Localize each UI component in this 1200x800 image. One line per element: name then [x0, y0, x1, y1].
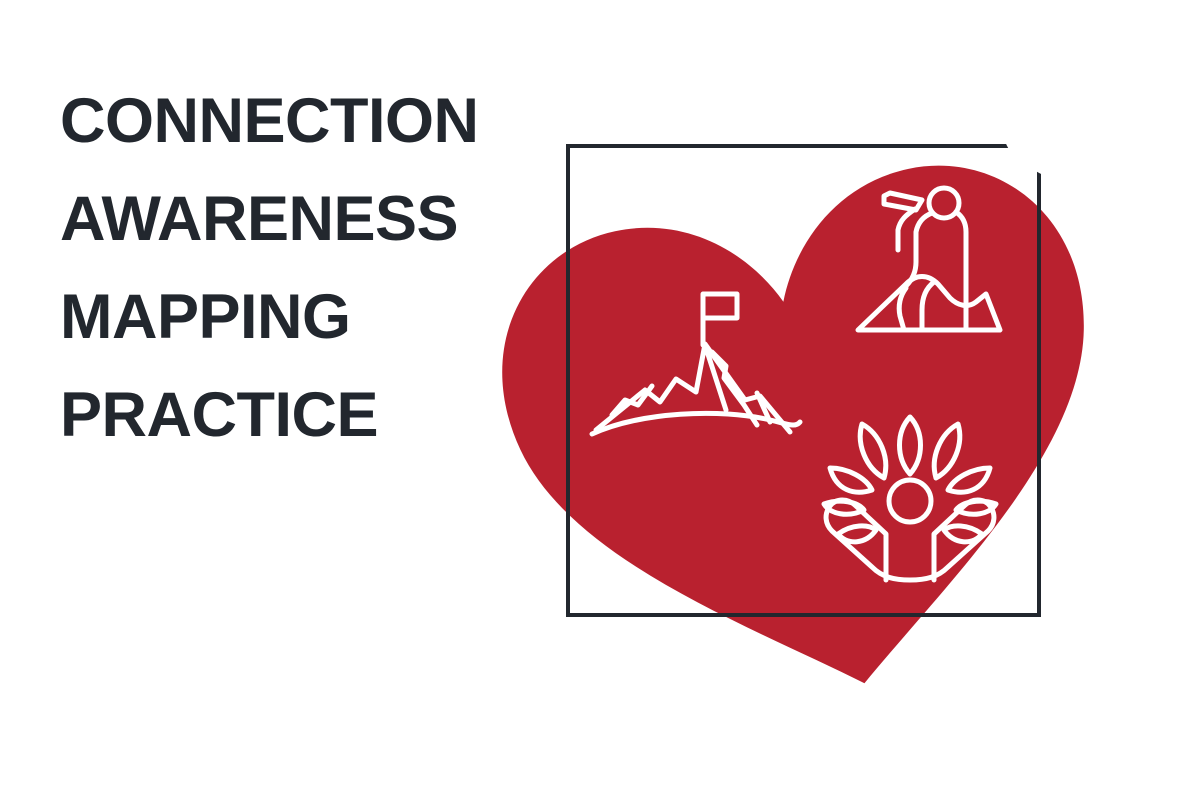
poster-canvas: CONNECTION AWARENESS MAPPING PRACTICE	[0, 0, 1200, 800]
heart-path	[475, 139, 1151, 744]
headline-block: CONNECTION AWARENESS MAPPING PRACTICE	[60, 72, 500, 464]
headline-line-1: CONNECTION	[60, 72, 500, 170]
accent-heart-path	[1000, 104, 1083, 184]
large-red-heart	[475, 139, 1151, 744]
headline-line-3: MAPPING	[60, 268, 500, 366]
headline-line-4: PRACTICE	[60, 366, 500, 464]
small-white-heart	[1000, 104, 1083, 184]
headline-line-2: AWARENESS	[60, 170, 500, 268]
